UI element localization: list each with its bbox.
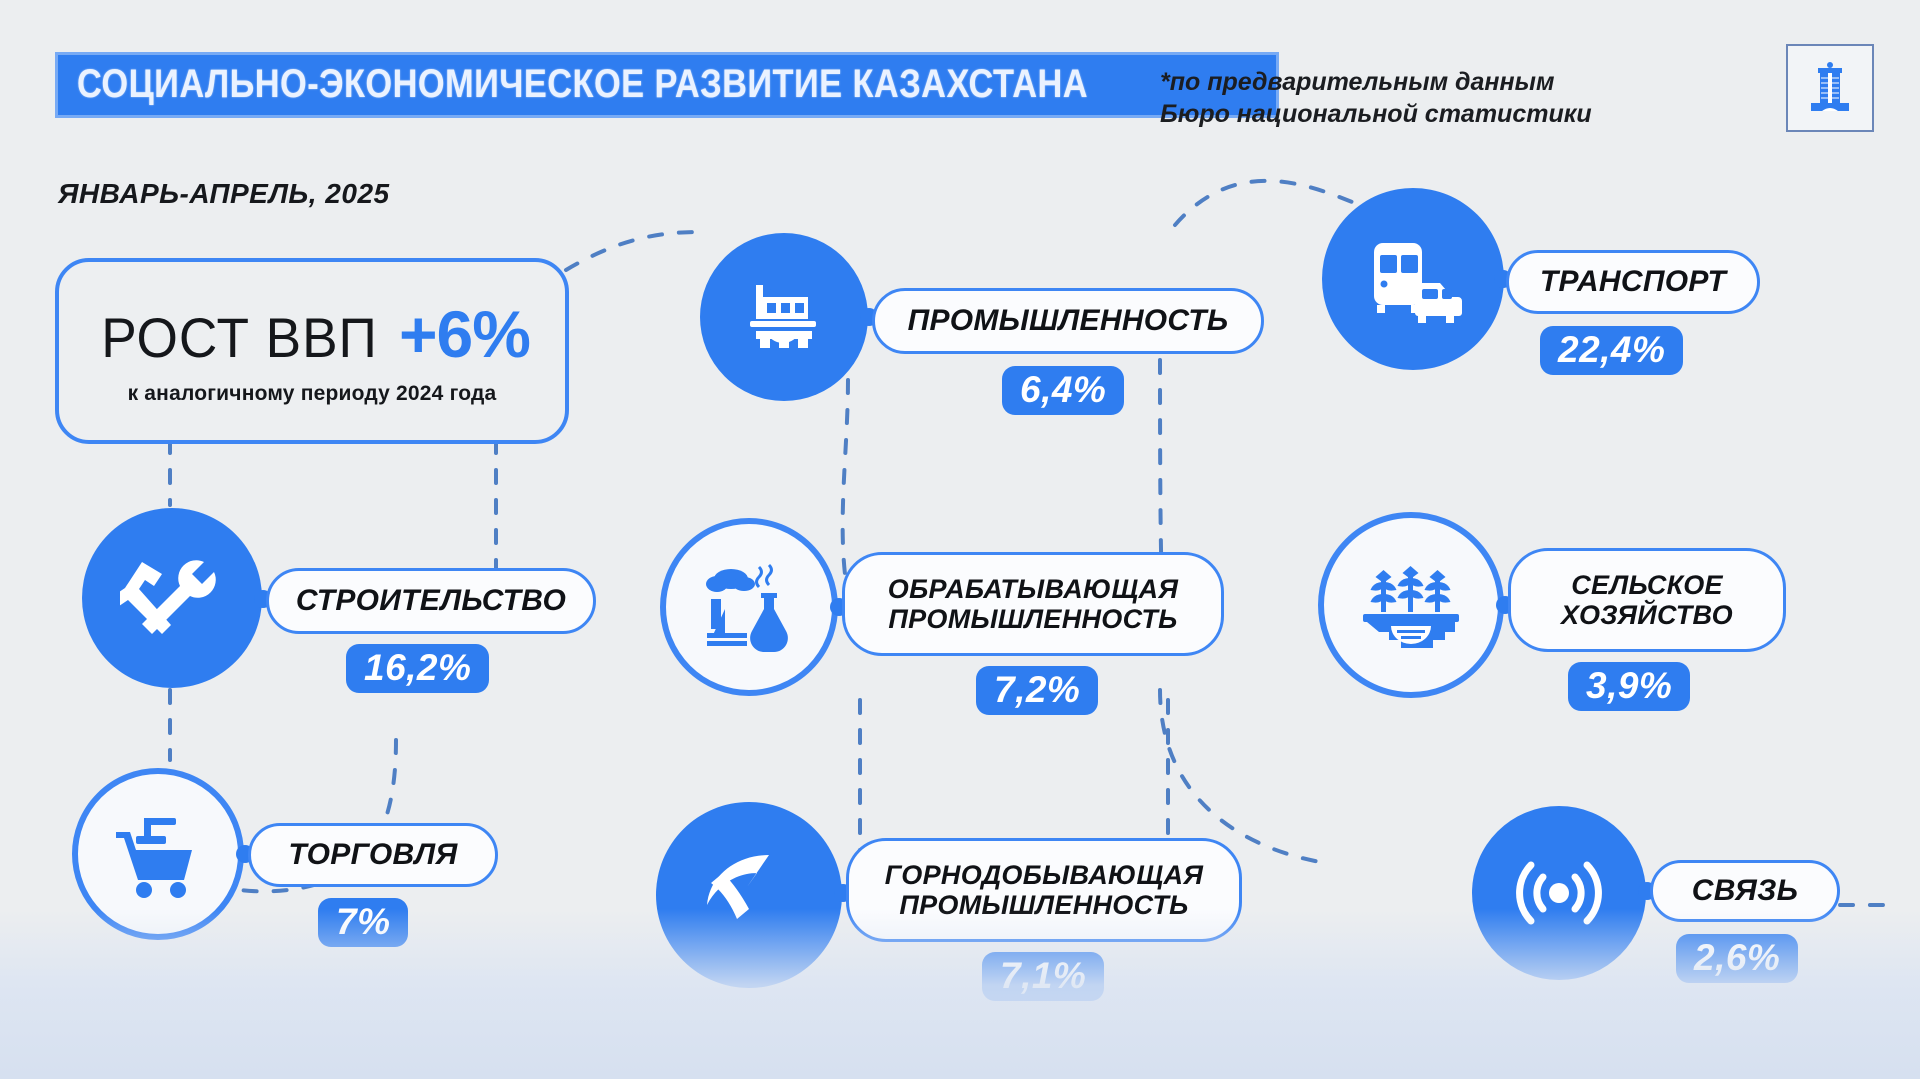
trade-label: ТОРГОВЛЯ [288, 838, 457, 872]
mining-value: 7,1% [1000, 957, 1086, 994]
transport-pill[interactable]: ТРАНСПОРТ [1506, 250, 1760, 314]
construction-circle[interactable] [82, 508, 262, 688]
industry-badge: 6,4% [1002, 366, 1124, 415]
manufacturing-label: ОБРАБАТЫВАЮЩАЯ ПРОМЫШЛЕННОСТЬ [888, 574, 1178, 634]
trade-badge: 7% [318, 898, 408, 947]
source-note: *по предварительным данным Бюро национал… [1160, 66, 1592, 130]
mining-label: ГОРНОДОБЫВАЮЩАЯ ПРОМЫШЛЕННОСТЬ [885, 860, 1203, 920]
communications-value: 2,6% [1694, 939, 1780, 976]
source-note-line1: *по предварительным данным [1160, 66, 1592, 98]
gdp-comparison-note: к аналогичному периоду 2024 года [128, 382, 497, 406]
construction-pill[interactable]: СТРОИТЕЛЬСТВО [266, 568, 596, 634]
hammer-wrench-icon [120, 546, 224, 650]
gdp-main-row: РОСТ ВВП +6% [94, 296, 530, 372]
construction-label: СТРОИТЕЛЬСТВО [296, 584, 566, 618]
logo-container [1786, 44, 1874, 132]
shopping-cart-icon [108, 806, 208, 902]
industry-pill[interactable]: ПРОМЫШЛЕННОСТЬ [872, 288, 1264, 354]
industry-label: ПРОМЫШЛЕННОСТЬ [908, 304, 1229, 338]
bus-car-icon [1360, 229, 1466, 329]
factory-flask-icon [697, 557, 801, 657]
pickaxe-icon [695, 843, 803, 947]
industry-circle[interactable] [700, 233, 868, 401]
government-building-icon [1802, 59, 1858, 117]
gdp-label: РОСТ ВВП [101, 305, 377, 370]
communications-pill[interactable]: СВЯЗЬ [1650, 860, 1840, 922]
trade-value: 7% [336, 903, 390, 940]
mining-badge: 7,1% [982, 952, 1104, 1001]
transport-circle[interactable] [1322, 188, 1504, 370]
page-title: СОЦИАЛЬНО-ЭКОНОМИЧЕСКОЕ РАЗВИТИЕ КАЗАХСТ… [55, 52, 1279, 118]
manufacturing-value: 7,2% [994, 671, 1080, 708]
transport-badge: 22,4% [1540, 326, 1683, 375]
industry-value: 6,4% [1020, 371, 1106, 408]
agriculture-label: СЕЛЬСКОЕ ХОЗЯЙСТВО [1561, 570, 1733, 630]
agriculture-value: 3,9% [1586, 667, 1672, 704]
transport-label: ТРАНСПОРТ [1540, 265, 1726, 299]
manufacturing-badge: 7,2% [976, 666, 1098, 715]
communications-badge: 2,6% [1676, 934, 1798, 983]
gdp-card: РОСТ ВВП +6% к аналогичному периоду 2024… [55, 258, 569, 444]
link-agriculture-communications [1160, 690, 1320, 862]
gdp-value: +6% [399, 296, 530, 372]
agriculture-pill[interactable]: СЕЛЬСКОЕ ХОЗЯЙСТВО [1508, 548, 1786, 652]
manufacturing-circle[interactable] [660, 518, 838, 696]
signal-waves-icon [1507, 845, 1611, 941]
construction-badge: 16,2% [346, 644, 489, 693]
infographic-canvas: СОЦИАЛЬНО-ЭКОНОМИЧЕСКОЕ РАЗВИТИЕ КАЗАХСТ… [0, 0, 1920, 1079]
trade-circle[interactable] [72, 768, 244, 940]
page-title-text: СОЦИАЛЬНО-ЭКОНОМИЧЕСКОЕ РАЗВИТИЕ КАЗАХСТ… [77, 64, 1088, 104]
link-industry-transport [1175, 181, 1360, 225]
construction-value: 16,2% [364, 649, 471, 686]
mining-pill[interactable]: ГОРНОДОБЫВАЮЩАЯ ПРОМЫШЛЕННОСТЬ [846, 838, 1242, 942]
manufacturing-pill[interactable]: ОБРАБАТЫВАЮЩАЯ ПРОМЫШЛЕННОСТЬ [842, 552, 1224, 656]
link-gdp-industry [566, 232, 700, 270]
period-subtitle: ЯНВАРЬ-АПРЕЛЬ, 2025 [58, 178, 390, 210]
factory-gear-icon [736, 269, 832, 365]
agriculture-badge: 3,9% [1568, 662, 1690, 711]
source-note-line2: Бюро национальной статистики [1160, 98, 1592, 130]
transport-value: 22,4% [1558, 331, 1665, 368]
agriculture-circle[interactable] [1318, 512, 1504, 698]
communications-circle[interactable] [1472, 806, 1646, 980]
communications-label: СВЯЗЬ [1692, 874, 1798, 908]
mining-circle[interactable] [656, 802, 842, 988]
trade-pill[interactable]: ТОРГОВЛЯ [248, 823, 498, 887]
wheat-gear-icon [1355, 552, 1467, 658]
